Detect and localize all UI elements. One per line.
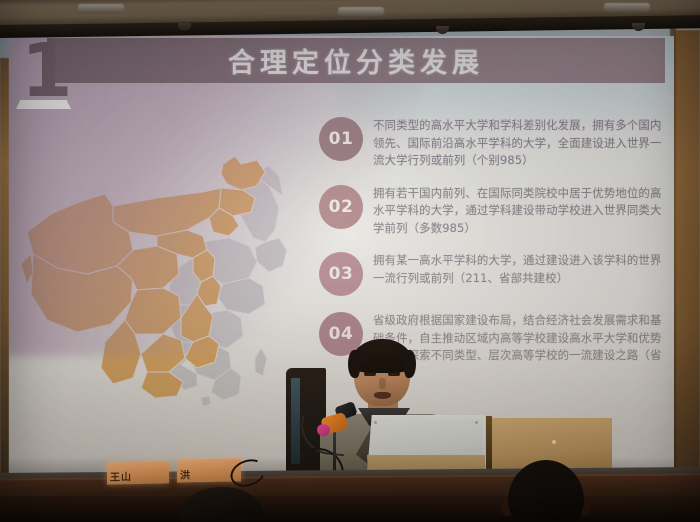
valance-mount-left [78, 4, 124, 13]
photo-scene: 1 合理定位分类发展 01 不同类型的高水平大学和学科差别化发展，拥有多个国内领… [0, 0, 700, 522]
orange-microphone-windscreen [317, 424, 330, 436]
audience-head-right-shape [508, 460, 584, 522]
audience-head-left-shape [180, 487, 264, 522]
name-placard-left-text: 王山 [110, 468, 132, 483]
audience-head-left [180, 487, 264, 522]
point-text-03: 拥有某一高水平学科的大学，通过建设进入该学科的世界一流行列或前列（211、省部共… [373, 251, 669, 287]
podium-desk-front [0, 496, 700, 522]
point-badge-02: 02 [319, 185, 363, 229]
presenter-chair-panel [291, 378, 300, 464]
left-wall-strip [0, 58, 9, 478]
name-placard-left: 王山 [107, 461, 169, 484]
presenter-hair-right [404, 350, 416, 378]
audience-head-right [498, 460, 594, 522]
slide-point-03: 03 拥有某一高水平学科的大学，通过建设进入该学科的世界一流行列或前列（211、… [319, 251, 669, 297]
presenter-mouth [374, 392, 391, 399]
point-text-01: 不同类型的高水平大学和学科差别化发展，拥有多个国内领先、国际前沿高水平学科的大学… [373, 116, 669, 170]
laptop-screw-top-right [475, 421, 478, 424]
point-badge-01: 01 [319, 117, 363, 161]
valance-mount-center [338, 7, 384, 16]
slide-point-02: 02 拥有若干国内前列、在国际同类院校中居于优势地位的高水平学科的大学，通过学科… [319, 184, 669, 238]
section-number-pedestal [16, 100, 71, 109]
name-placard-right-text: 洪 [180, 466, 191, 481]
laptop-screw-top-left [374, 421, 377, 424]
presenter-nose [379, 378, 386, 389]
slide-title: 合理定位分类发展 [228, 41, 484, 80]
slide-point-01: 01 不同类型的高水平大学和学科差别化发展，拥有多个国内领先、国际前沿高水平学科… [319, 116, 669, 170]
point-badge-03: 03 [319, 252, 363, 296]
valance-mount-right [604, 3, 650, 12]
lectern-light [552, 440, 556, 444]
right-wall-panel [674, 30, 700, 490]
slide-title-bar: 合理定位分类发展 [47, 38, 665, 83]
point-text-02: 拥有若干国内前列、在国际同类院校中居于优势地位的高水平学科的大学，通过学科建设带… [373, 184, 669, 238]
presenter-hair-left [348, 350, 360, 378]
